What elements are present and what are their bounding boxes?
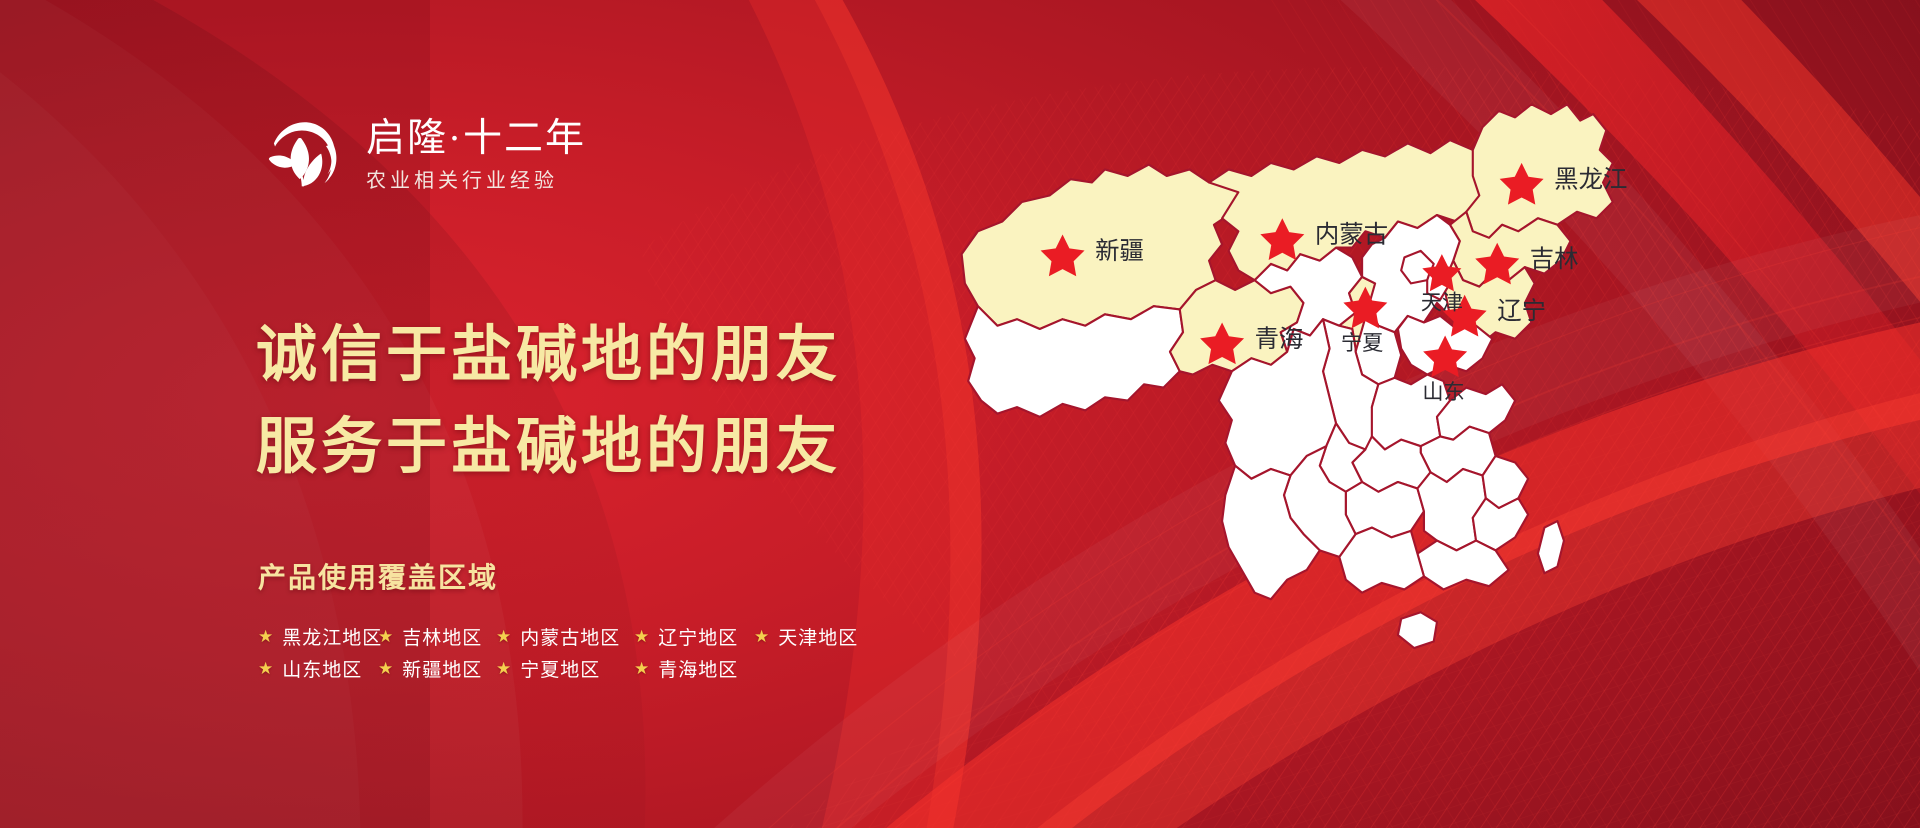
region-item-jilin: ★ 吉林地区	[378, 623, 496, 650]
map-label-shandong: 山东	[1422, 380, 1464, 404]
headline-block: 诚信于盐碱地的朋友 服务于盐碱地的朋友	[256, 310, 841, 494]
brand-lockup: 启隆·十二年 农业相关行业经验	[258, 112, 586, 198]
map-label-xinjiang: 新疆	[1095, 238, 1144, 265]
region-item-qinghai: ★ 青海地区	[634, 655, 738, 682]
coverage-region-row-2: ★ 山东地区 ★ 新疆地区 ★ 宁夏地区 ★ 青海地区	[258, 652, 858, 684]
province-taiwan	[1538, 521, 1564, 573]
map-label-heilongjiang: 黑龙江	[1554, 166, 1627, 193]
star-icon: ★	[496, 660, 511, 677]
region-item-neimenggu: ★ 内蒙古地区	[496, 623, 634, 650]
region-label: 吉林地区	[402, 623, 482, 650]
region-item-heilongjiang: ★ 黑龙江地区	[258, 623, 378, 650]
china-map-svg: .pv{stroke:#a5152c;stroke-width:1.3;stro…	[930, 62, 1690, 762]
hero-banner: 启隆·十二年 农业相关行业经验 诚信于盐碱地的朋友 服务于盐碱地的朋友 产品使用…	[0, 0, 1920, 828]
region-item-tianjin: ★ 天津地区	[754, 623, 858, 650]
map-label-liaoning: 辽宁	[1497, 298, 1546, 325]
region-item-ningxia: ★ 宁夏地区	[496, 655, 634, 682]
star-icon: ★	[378, 628, 393, 645]
star-icon: ★	[634, 628, 649, 645]
coverage-block: 产品使用覆盖区域 ★ 黑龙江地区 ★ 吉林地区 ★ 内蒙古地区 ★ 辽宁地区	[258, 556, 858, 684]
china-coverage-map: .pv{stroke:#a5152c;stroke-width:1.3;stro…	[930, 62, 1690, 762]
coverage-region-rows: ★ 黑龙江地区 ★ 吉林地区 ★ 内蒙古地区 ★ 辽宁地区 ★ 天津地区	[258, 620, 858, 684]
star-icon: ★	[378, 660, 393, 677]
region-item-liaoning: ★ 辽宁地区	[634, 623, 754, 650]
star-icon: ★	[634, 660, 649, 677]
province-hunan	[1346, 482, 1424, 537]
region-label: 辽宁地区	[658, 623, 738, 650]
map-label-tianjin: 天津	[1421, 290, 1463, 314]
headline-line-2: 服务于盐碱地的朋友	[256, 402, 841, 494]
region-item-shandong: ★ 山东地区	[258, 655, 378, 682]
headline-line-1: 诚信于盐碱地的朋友	[256, 310, 841, 402]
province-hainan	[1398, 612, 1437, 648]
region-label: 山东地区	[282, 655, 362, 682]
brand-subtitle: 农业相关行业经验	[366, 169, 586, 193]
map-label-ningxia: 宁夏	[1341, 331, 1383, 355]
region-label: 内蒙古地区	[520, 623, 620, 650]
brand-title: 启隆·十二年	[366, 119, 586, 160]
brand-text: 启隆·十二年 农业相关行业经验	[366, 117, 586, 194]
region-label: 新疆地区	[402, 655, 482, 682]
region-label: 宁夏地区	[520, 655, 600, 682]
lotus-leaf-circle-logo-icon	[258, 112, 344, 198]
star-icon: ★	[754, 628, 769, 645]
map-label-neimenggu: 内蒙古	[1315, 222, 1388, 249]
star-icon: ★	[258, 628, 273, 645]
region-label: 青海地区	[658, 655, 738, 682]
region-label: 黑龙江地区	[282, 623, 382, 650]
region-label: 天津地区	[778, 623, 858, 650]
map-label-jilin: 吉林	[1530, 246, 1579, 273]
region-item-xinjiang: ★ 新疆地区	[378, 655, 496, 682]
star-icon: ★	[496, 628, 511, 645]
coverage-region-row-1: ★ 黑龙江地区 ★ 吉林地区 ★ 内蒙古地区 ★ 辽宁地区 ★ 天津地区	[258, 620, 858, 652]
logo-svg	[258, 112, 344, 198]
map-label-qinghai: 青海	[1255, 326, 1304, 353]
coverage-title: 产品使用覆盖区域	[258, 556, 858, 596]
star-icon: ★	[258, 660, 273, 677]
